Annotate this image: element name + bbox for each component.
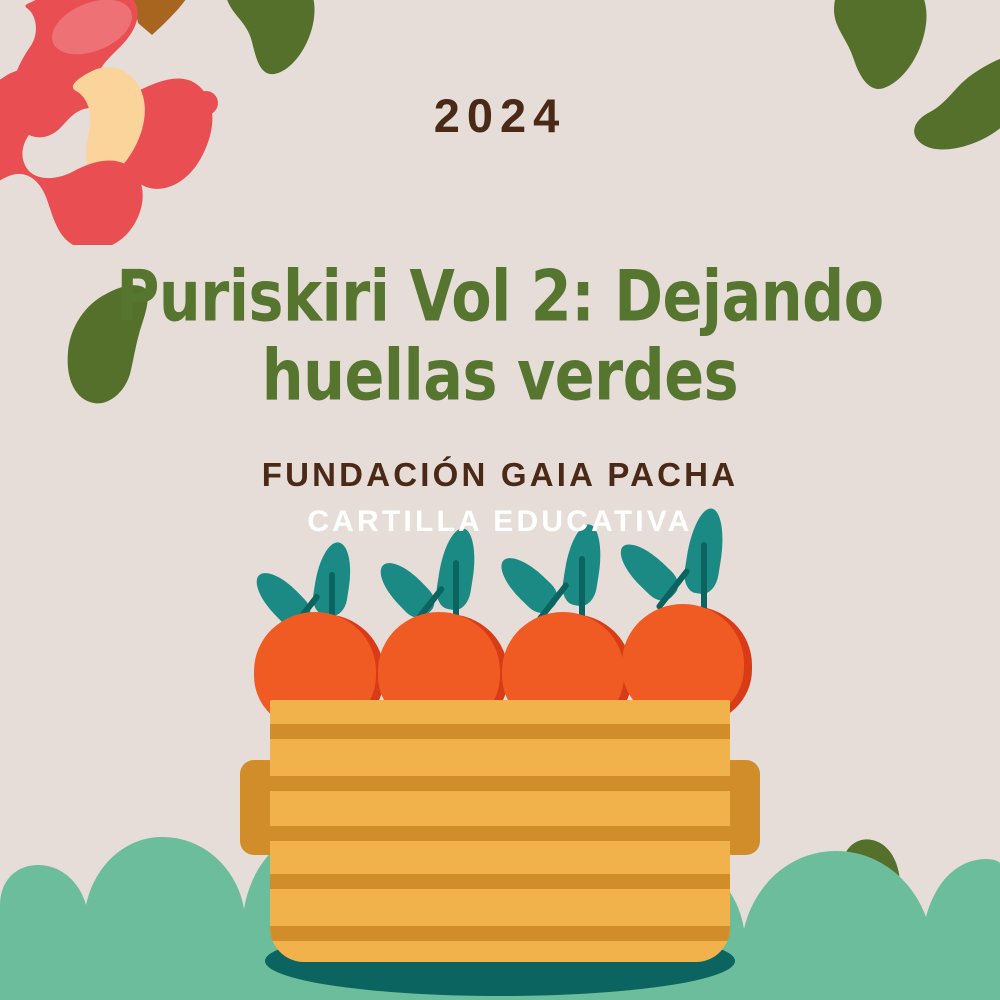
title-line-2: huellas verdes [108, 337, 892, 416]
title-line-1: Puriskiri Vol 2: Dejando [108, 258, 892, 337]
poster-canvas: 2024 Puriskiri Vol 2: Dejando huellas ve… [0, 0, 1000, 1000]
year-label: 2024 [0, 88, 1000, 143]
document-subtitle: CARTILLA EDUCATIVA [0, 505, 1000, 539]
text-layer: 2024 Puriskiri Vol 2: Dejando huellas ve… [0, 0, 1000, 1000]
page-title: Puriskiri Vol 2: Dejando huellas verdes [108, 258, 892, 417]
organization-name: FUNDACIÓN GAIA PACHA [0, 456, 1000, 494]
